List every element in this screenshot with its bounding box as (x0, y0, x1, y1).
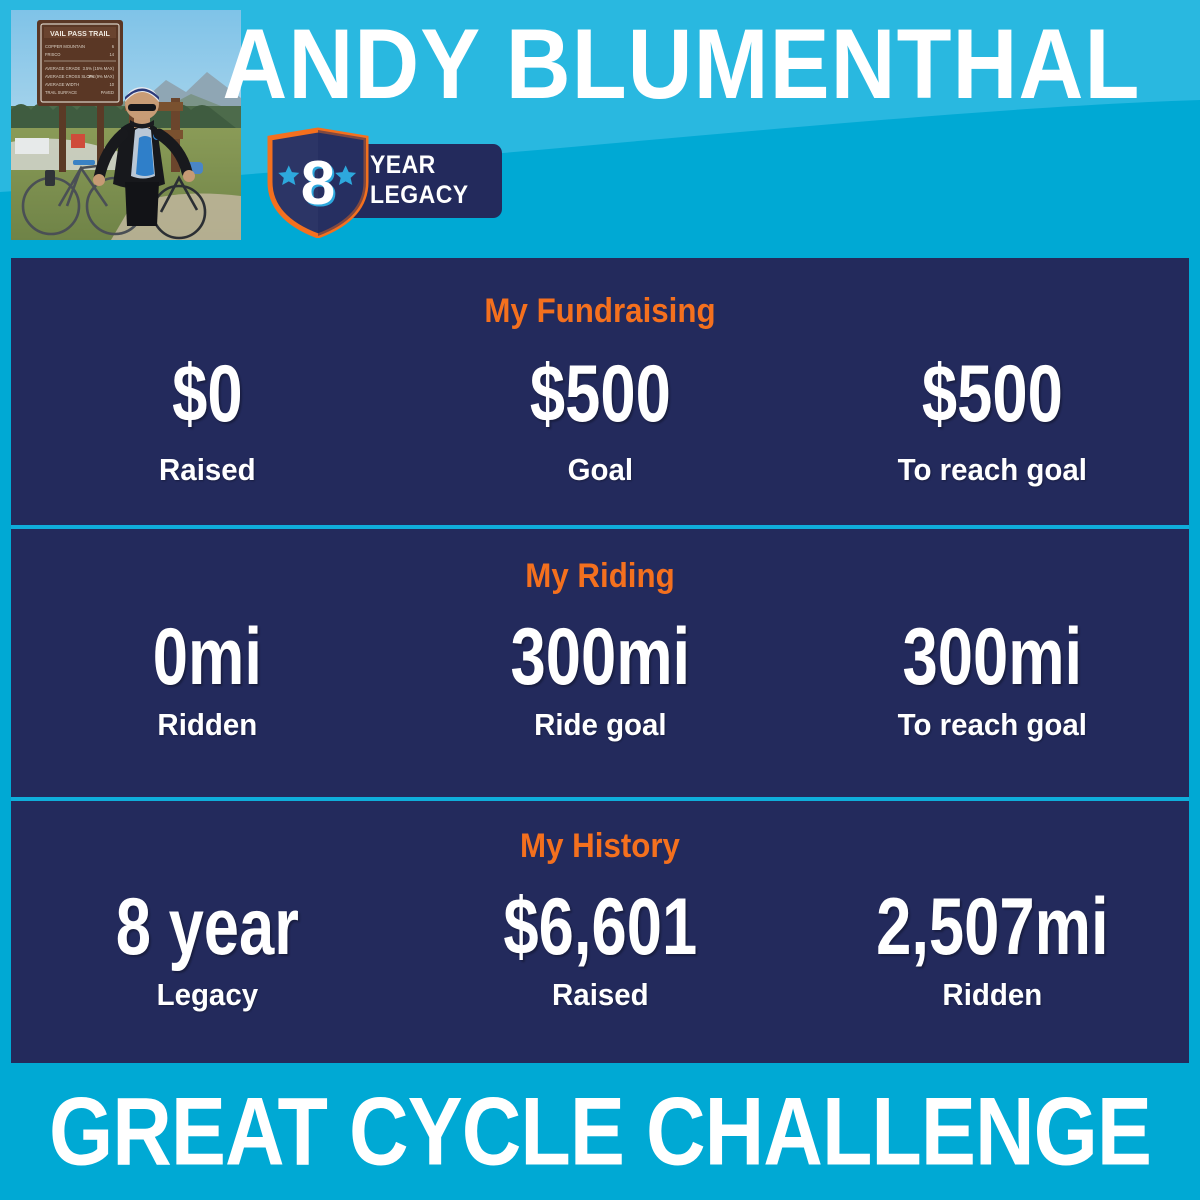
stat-ride-to-reach-goal: 300mi To reach goal (796, 611, 1189, 745)
stat-legacy: 8 year Legacy (11, 881, 404, 1015)
svg-text:10: 10 (109, 82, 114, 87)
stat-ride-goal: 300mi Ride goal (404, 611, 797, 745)
svg-text:2% (9% MAX): 2% (9% MAX) (88, 74, 114, 79)
stat-to-reach-goal: $500 To reach goal (796, 348, 1189, 490)
section-history: My History 8 year Legacy $6,601 Raised 2… (11, 801, 1189, 1063)
section-title-riding: My Riding (58, 556, 1142, 596)
stats-row-history: 8 year Legacy $6,601 Raised 2,507mi Ridd… (11, 881, 1189, 1015)
profile-photo-illustration: VAIL PASS TRAIL COPPER MOUNTAIN6 FRISCO1… (11, 10, 241, 240)
stat-value: $0 (35, 342, 381, 445)
svg-text:AVERAGE GRADE: AVERAGE GRADE (45, 66, 80, 71)
stat-history-raised: $6,601 Raised (404, 881, 797, 1015)
svg-text:PAVED: PAVED (101, 90, 114, 95)
legacy-badge: YEAR LEGACY 8 8 (262, 126, 502, 238)
stat-label: Goal (413, 450, 786, 490)
shield-icon: 8 8 (262, 126, 374, 238)
svg-text:FRISCO: FRISCO (45, 52, 60, 57)
profile-photo: VAIL PASS TRAIL COPPER MOUNTAIN6 FRISCO1… (11, 10, 241, 240)
stat-label: To reach goal (806, 705, 1179, 745)
svg-text:TRAIL SURFACE: TRAIL SURFACE (45, 90, 77, 95)
stats-row-riding: 0mi Ridden 300mi Ride goal 300mi To reac… (11, 611, 1189, 745)
stats-row-fundraising: $0 Raised $500 Goal $500 To reach goal (11, 348, 1189, 490)
stat-value: $500 (820, 342, 1166, 445)
page-title: ANDY BLUMENTHAL (222, 5, 1067, 123)
stat-value: 2,507mi (820, 875, 1166, 978)
stat-value: 0mi (35, 605, 381, 708)
footer-brand-title: GREAT CYCLE CHALLENGE (24, 1073, 1176, 1192)
legacy-badge-line1: YEAR (370, 150, 490, 180)
stat-history-ridden: 2,507mi Ridden (796, 881, 1189, 1015)
stat-label: Ridden (21, 705, 394, 745)
stat-value: 8 year (35, 875, 381, 978)
section-fundraising: My Fundraising $0 Raised $500 Goal $500 … (11, 258, 1189, 525)
campaign-poster: VAIL PASS TRAIL COPPER MOUNTAIN6 FRISCO1… (0, 0, 1200, 1200)
svg-text:COPPER MOUNTAIN: COPPER MOUNTAIN (45, 44, 85, 49)
stat-raised: $0 Raised (11, 348, 404, 490)
stat-value: $6,601 (427, 875, 773, 978)
stat-label: To reach goal (806, 450, 1179, 490)
stat-value: 300mi (820, 605, 1166, 708)
stat-label: Ridden (806, 975, 1179, 1015)
legacy-badge-plate-text: YEAR LEGACY (370, 150, 490, 210)
section-riding: My Riding 0mi Ridden 300mi Ride goal 300… (11, 529, 1189, 797)
svg-text:14: 14 (109, 52, 114, 57)
stat-value: $500 (427, 342, 773, 445)
poster-footer: GREAT CYCLE CHALLENGE (0, 1063, 1200, 1200)
stat-value: 300mi (427, 605, 773, 708)
stats-panel: My Fundraising $0 Raised $500 Goal $500 … (11, 258, 1189, 1063)
stat-label: Raised (21, 450, 394, 490)
section-title-fundraising: My Fundraising (58, 291, 1142, 331)
svg-text:AVERAGE WIDTH: AVERAGE WIDTH (45, 82, 79, 87)
svg-text:VAIL PASS TRAIL: VAIL PASS TRAIL (50, 29, 111, 38)
stat-label: Legacy (21, 975, 394, 1015)
poster-header: VAIL PASS TRAIL COPPER MOUNTAIN6 FRISCO1… (0, 0, 1200, 258)
section-title-history: My History (58, 826, 1142, 866)
stat-label: Ride goal (413, 705, 786, 745)
stat-label: Raised (413, 975, 786, 1015)
stat-ridden: 0mi Ridden (11, 611, 404, 745)
legacy-badge-line2: LEGACY (370, 180, 490, 210)
svg-text:3.5% (15% MAX): 3.5% (15% MAX) (83, 66, 115, 71)
stat-goal: $500 Goal (404, 348, 797, 490)
legacy-badge-number: 8 (301, 149, 335, 218)
